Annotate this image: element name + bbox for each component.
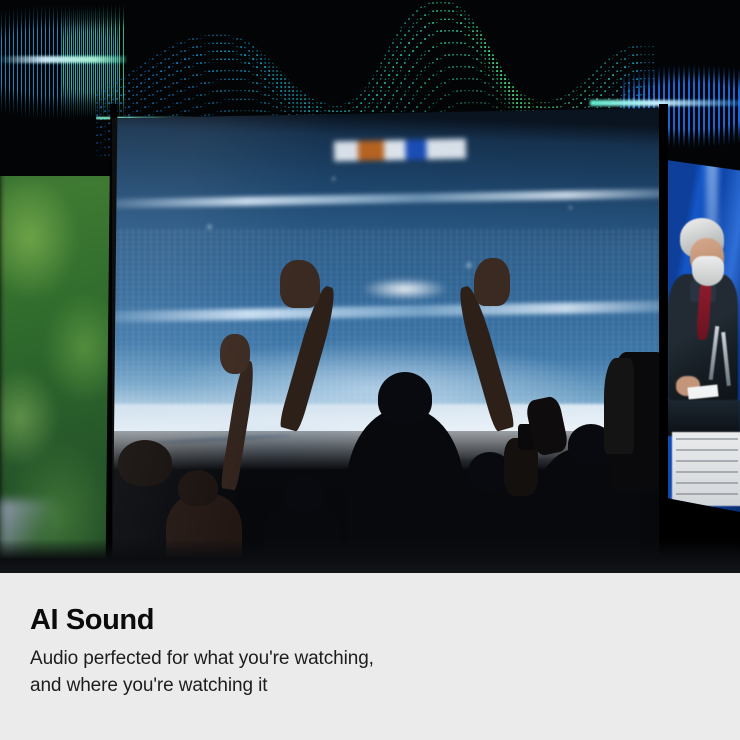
tv-panel-news-studio [666, 160, 740, 512]
tv-panel-hockey-arena [112, 108, 664, 573]
fan-center-left-hand [280, 260, 320, 308]
feature-subtitle-line-1: Audio perfected for what you're watching… [30, 648, 374, 669]
panel-seam-right [659, 104, 668, 573]
fan-edge-arm [604, 358, 634, 454]
fan-left-raised-hand [220, 334, 250, 374]
hero-image [0, 0, 740, 573]
studio-desk-top [666, 400, 740, 436]
anchor-beard [692, 256, 724, 286]
fan-left-second-head [178, 470, 218, 506]
fan-left-head [118, 440, 172, 486]
ai-sound-promo-card: AI Sound Audio perfected for what you're… [0, 0, 740, 740]
feature-subtitle-line-2: and where you're watching it [30, 675, 267, 696]
studio-desk-slats [676, 438, 738, 500]
arena-spotlight [362, 278, 448, 300]
caption-block: AI Sound Audio perfected for what you're… [0, 573, 740, 740]
fan-center-head [378, 372, 432, 424]
feature-title: AI Sound [30, 605, 710, 635]
hero-floor-shadow [0, 539, 740, 573]
fan-center-right-hand [474, 258, 510, 306]
fan-third-head [284, 474, 324, 512]
feature-subtitle: Audio perfected for what you're watching… [30, 646, 710, 700]
arena-scoreboard [334, 139, 466, 162]
